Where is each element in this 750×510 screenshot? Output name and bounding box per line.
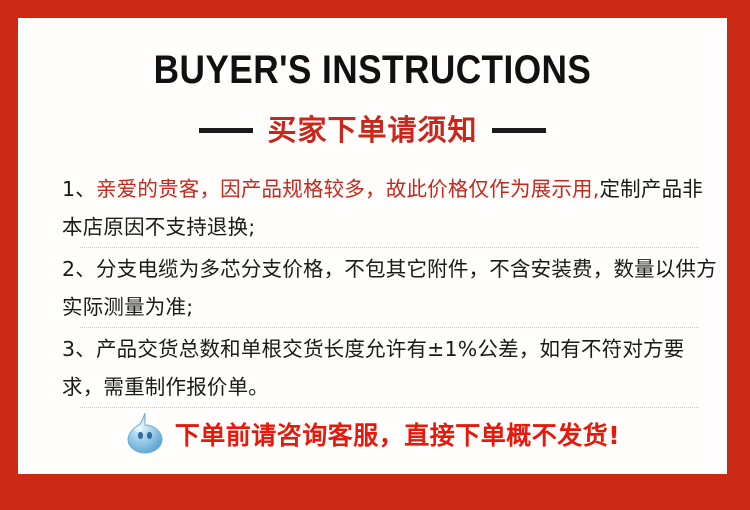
page-subtitle: 买家下单请须知 bbox=[267, 116, 477, 145]
dash-right-icon bbox=[492, 128, 546, 133]
item-index: 1、 bbox=[62, 177, 96, 201]
item-text: 产品交货总数和单根交货长度允许有±1%公差，如有不符对方要求，需重制作报价单。 bbox=[62, 337, 684, 399]
list-item: 1、亲爱的贵客，因产品规格较多，故此价格仅作为展示用,定制产品非本店原因不支持退… bbox=[62, 170, 717, 246]
footer-notice: 下单前请咨询客服，直接下单概不发货! bbox=[18, 412, 727, 459]
white-content-panel: BUYER'S INSTRUCTIONS 买家下单请须知 1、亲爱的贵客，因产品… bbox=[18, 18, 727, 474]
list-item: 2、分支电缆为多芯分支价格，不包其它附件，不含安装费，数量以供方实际测量为准; bbox=[62, 250, 717, 326]
item-index: 3、 bbox=[62, 337, 96, 361]
divider-2 bbox=[80, 327, 699, 329]
blue-water-drop-face-icon bbox=[125, 412, 165, 459]
divider-3 bbox=[80, 407, 699, 409]
list-item: 3、产品交货总数和单根交货长度允许有±1%公差，如有不符对方要求，需重制作报价单… bbox=[62, 330, 717, 406]
item-text: 分支电缆为多芯分支价格，不包其它附件，不含安装费，数量以供方实际测量为准; bbox=[62, 257, 717, 319]
item-index: 2、 bbox=[62, 257, 96, 281]
dash-left-icon bbox=[199, 128, 253, 133]
item-highlight: 亲爱的贵客，因产品规格较多，故此价格仅作为展示用, bbox=[96, 177, 600, 201]
instructions-list: 1、亲爱的贵客，因产品规格较多，故此价格仅作为展示用,定制产品非本店原因不支持退… bbox=[62, 170, 717, 410]
buyer-instructions-poster: BUYER'S INSTRUCTIONS 买家下单请须知 1、亲爱的贵客，因产品… bbox=[0, 0, 750, 510]
divider-1 bbox=[80, 247, 699, 249]
page-title: BUYER'S INSTRUCTIONS bbox=[61, 48, 685, 93]
subtitle-row: 买家下单请须知 bbox=[18, 116, 727, 145]
footer-text: 下单前请咨询客服，直接下单概不发货! bbox=[175, 423, 620, 448]
